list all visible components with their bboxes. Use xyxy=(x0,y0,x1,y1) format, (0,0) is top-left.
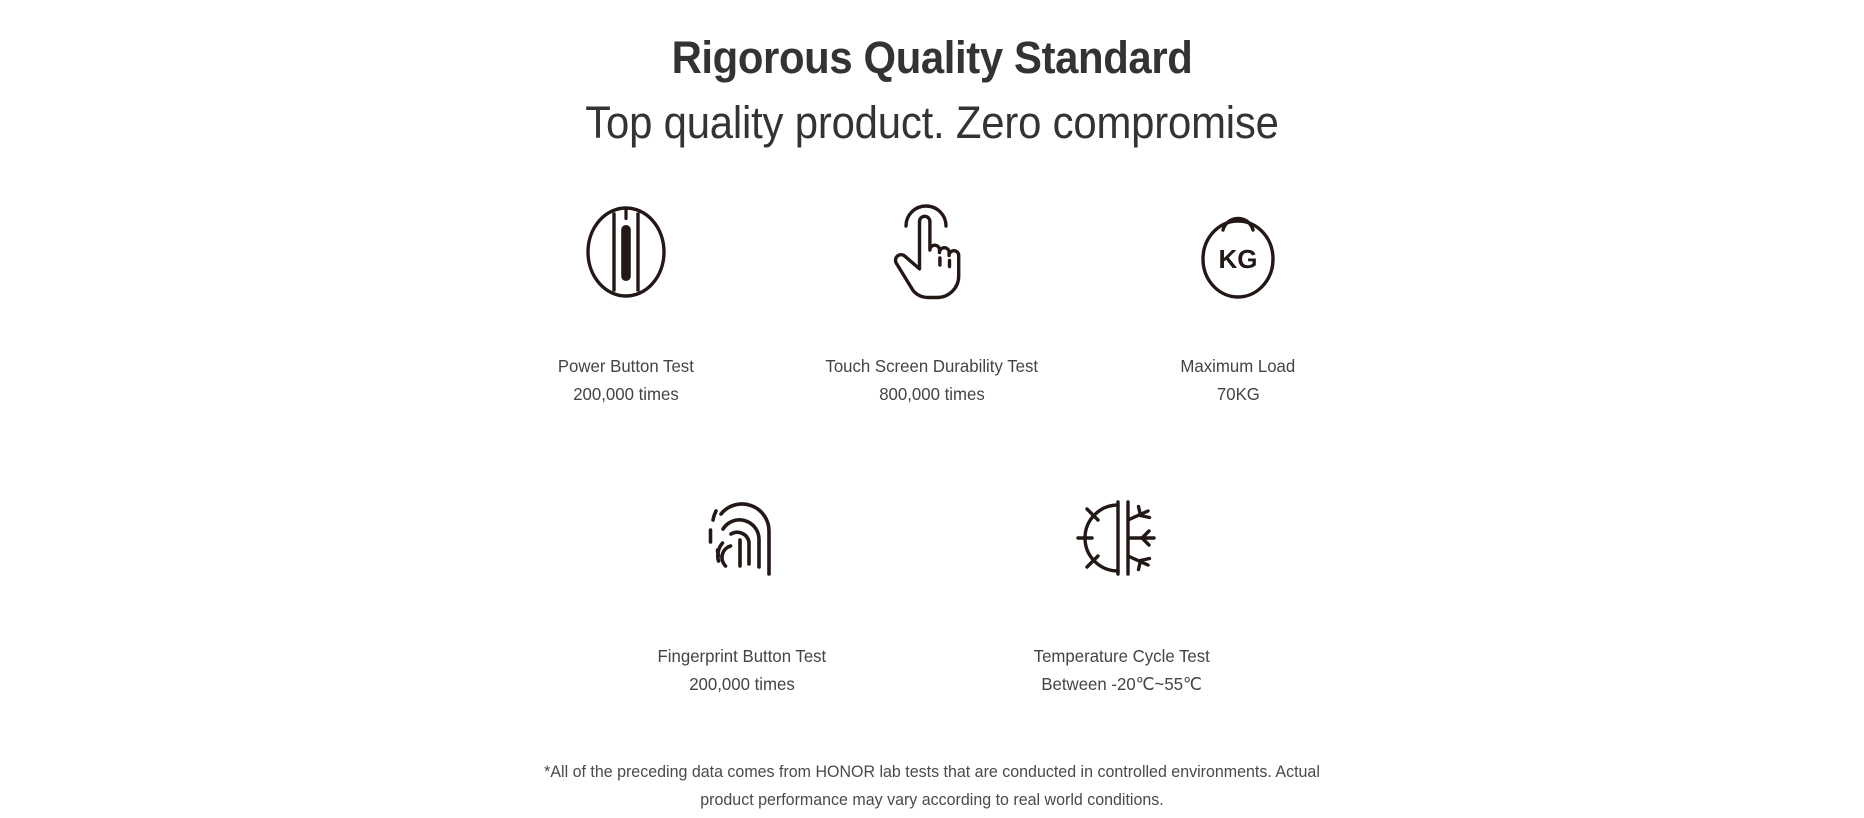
feature-label: Temperature Cycle Test xyxy=(1034,642,1210,670)
feature-label: Touch Screen Durability Test xyxy=(826,352,1039,380)
page-heading-block: Rigorous Quality Standard Top quality pr… xyxy=(0,0,1864,156)
page-title: Rigorous Quality Standard xyxy=(65,26,1799,90)
page-subtitle: Top quality product. Zero compromise xyxy=(65,90,1799,156)
feature-label: Maximum Load xyxy=(1181,352,1296,380)
feature-value: 70KG xyxy=(1217,380,1260,408)
feature-grid: Power Button Test 200,000 times xyxy=(382,200,1482,698)
feature-label: Fingerprint Button Test xyxy=(658,642,827,670)
feature-power-button-test: Power Button Test 200,000 times xyxy=(473,200,779,408)
feature-value: 200,000 times xyxy=(689,670,795,698)
feature-temperature-cycle-test: Temperature Cycle Test Between -20℃~55℃ xyxy=(932,486,1312,698)
footnote-line-2: product performance may vary according t… xyxy=(28,786,1836,814)
feature-maximum-load: KG Maximum Load 70KG xyxy=(1085,200,1391,408)
sun-snowflake-icon xyxy=(1072,486,1172,590)
power-button-icon xyxy=(580,200,672,304)
footnote: *All of the preceding data comes from HO… xyxy=(0,758,1864,814)
feature-row-2: Fingerprint Button Test 200,000 times xyxy=(382,486,1482,698)
footnote-line-1: *All of the preceding data comes from HO… xyxy=(28,758,1836,786)
feature-touch-screen-durability-test: Touch Screen Durability Test 800,000 tim… xyxy=(779,200,1085,408)
touch-hand-icon xyxy=(893,200,971,304)
feature-value: 200,000 times xyxy=(573,380,679,408)
feature-fingerprint-button-test: Fingerprint Button Test 200,000 times xyxy=(552,486,932,698)
fingerprint-icon xyxy=(703,486,781,590)
feature-value: 800,000 times xyxy=(879,380,985,408)
weight-kg-icon: KG xyxy=(1194,200,1282,304)
weight-icon-label: KG xyxy=(1219,244,1258,274)
quality-standard-page: Rigorous Quality Standard Top quality pr… xyxy=(0,0,1864,818)
feature-value: Between -20℃~55℃ xyxy=(1042,670,1203,698)
feature-label: Power Button Test xyxy=(558,352,694,380)
feature-row-1: Power Button Test 200,000 times xyxy=(382,200,1482,408)
